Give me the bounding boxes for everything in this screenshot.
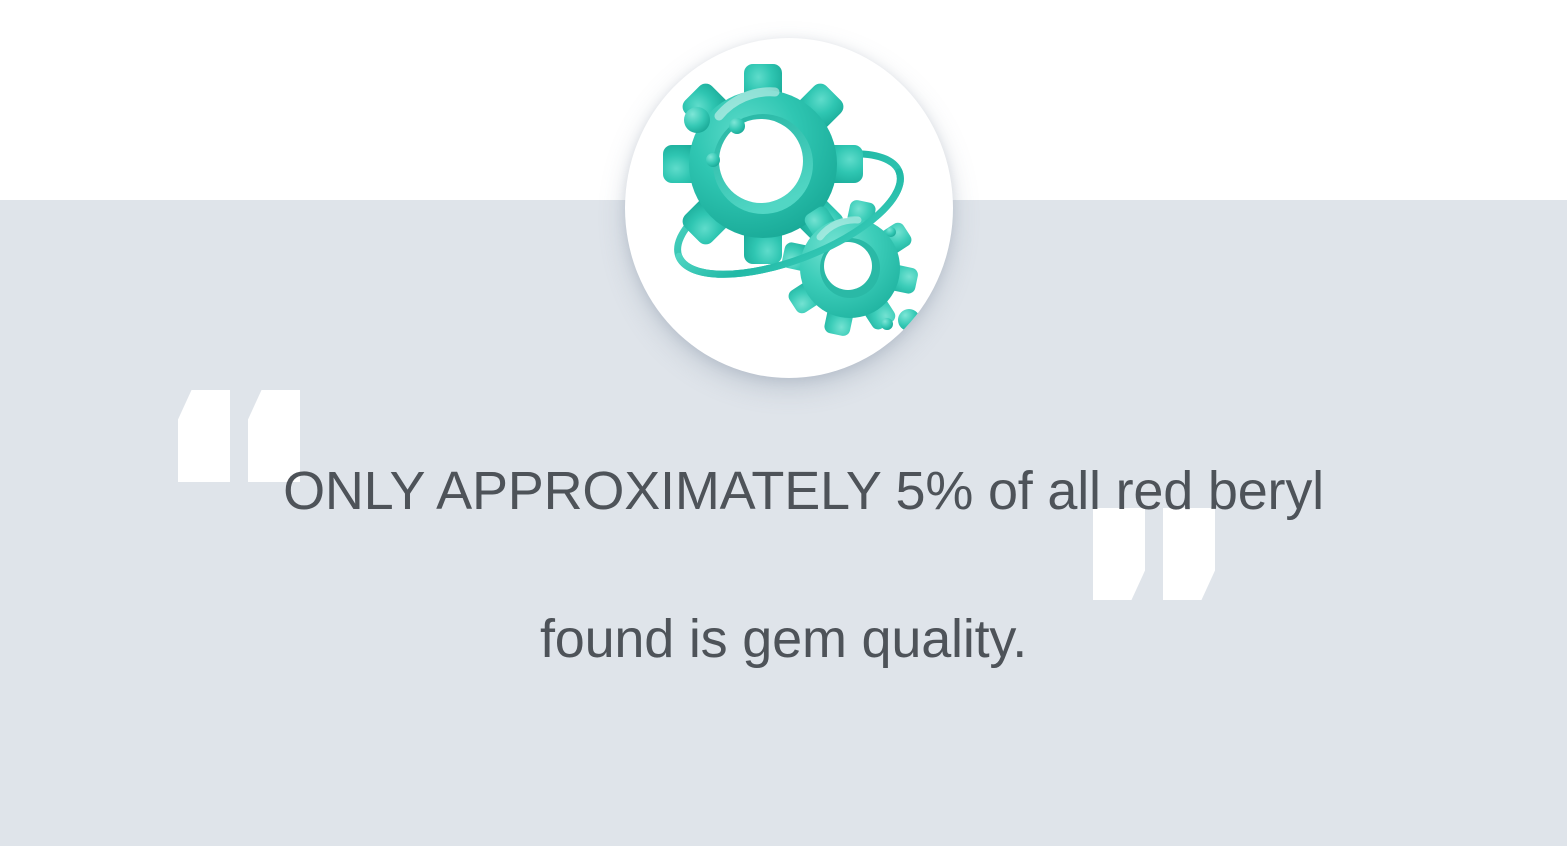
quote-text: ONLY APPROXIMATELY 5% of all red beryl f…	[0, 380, 1567, 750]
quote-text-block: ONLY APPROXIMATELY 5% of all red beryl f…	[0, 380, 1567, 620]
gears-3d-icon	[625, 38, 953, 378]
quote-line-2: found is gem quality.	[0, 602, 1567, 676]
quote-card: ONLY APPROXIMATELY 5% of all red beryl f…	[0, 0, 1567, 846]
quote-line-1: ONLY APPROXIMATELY 5% of all red beryl	[0, 454, 1567, 528]
